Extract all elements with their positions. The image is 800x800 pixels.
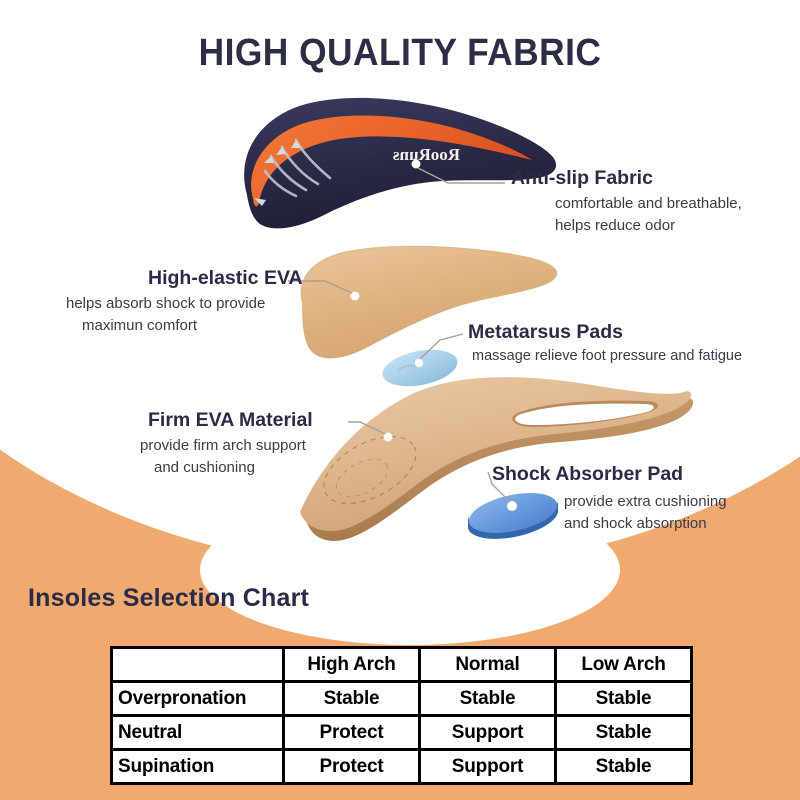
callout-heading: Metatarsus Pads xyxy=(468,322,742,343)
callout-body-line: massage relieve foot pressure and fatigu… xyxy=(472,346,742,367)
callout-high-elastic-eva: High-elastic EVA helps absorb shock to p… xyxy=(66,268,303,337)
callout-body-line: comfortable and breathable, xyxy=(555,193,742,215)
row-header-overpronation: Overpronation xyxy=(112,682,284,716)
callout-body: massage relieve foot pressure and fatigu… xyxy=(472,346,742,367)
callout-body: comfortable and breathable, helps reduce… xyxy=(555,193,742,237)
callout-body-line: and shock absorption xyxy=(564,513,727,535)
callout-body-line: provide firm arch support xyxy=(140,435,313,457)
callout-body-line: helps reduce odor xyxy=(555,215,742,237)
callout-body-line: maximun comfort xyxy=(82,315,303,337)
table-corner-cell xyxy=(112,648,284,682)
callout-heading: Firm EVA Material xyxy=(148,410,313,431)
callout-anti-slip-fabric: Anti-slip Fabric comfortable and breatha… xyxy=(511,168,742,237)
callout-heading: Shock Absorber Pad xyxy=(492,464,727,485)
brand-label: RooRuns xyxy=(393,145,460,164)
top-insole-fabric: RooRuns xyxy=(244,98,556,229)
table-row: Overpronation Stable Stable Stable xyxy=(112,682,692,716)
callout-body-line: and cushioning xyxy=(154,457,313,479)
insoles-selection-table: High Arch Normal Low Arch Overpronation … xyxy=(110,646,693,785)
callout-shock-absorber-pad: Shock Absorber Pad provide extra cushion… xyxy=(492,464,727,535)
table-cell: Stable xyxy=(420,682,556,716)
table-cell: Protect xyxy=(284,716,420,750)
callout-heading: Anti-slip Fabric xyxy=(511,168,742,189)
callout-heading: High-elastic EVA xyxy=(148,268,303,289)
callout-body: provide extra cushioning and shock absor… xyxy=(564,491,727,535)
table-cell: Stable xyxy=(556,682,692,716)
column-header-high-arch: High Arch xyxy=(284,648,420,682)
table-cell: Protect xyxy=(284,750,420,784)
row-header-neutral: Neutral xyxy=(112,716,284,750)
callout-firm-eva-material: Firm EVA Material provide firm arch supp… xyxy=(140,410,313,479)
table-row: Neutral Protect Support Stable xyxy=(112,716,692,750)
table-row: Supination Protect Support Stable xyxy=(112,750,692,784)
chart-title: Insoles Selection Chart xyxy=(28,584,309,613)
table-cell: Stable xyxy=(284,682,420,716)
column-header-low-arch: Low Arch xyxy=(556,648,692,682)
callout-body: helps absorb shock to provide maximun co… xyxy=(66,293,303,337)
anchor-dot-metatarsus xyxy=(415,359,423,367)
anchor-dot-anti-slip xyxy=(412,160,421,169)
table-cell: Stable xyxy=(556,716,692,750)
column-header-normal: Normal xyxy=(420,648,556,682)
table-cell: Support xyxy=(420,716,556,750)
callout-metatarsus-pads: Metatarsus Pads massage relieve foot pre… xyxy=(468,322,742,367)
callout-body-line: helps absorb shock to provide xyxy=(66,293,303,315)
row-header-supination: Supination xyxy=(112,750,284,784)
table-header-row: High Arch Normal Low Arch xyxy=(112,648,692,682)
callout-body: provide firm arch support and cushioning xyxy=(140,435,313,479)
callout-body-line: provide extra cushioning xyxy=(564,491,727,513)
table-cell: Stable xyxy=(556,750,692,784)
table-cell: Support xyxy=(420,750,556,784)
